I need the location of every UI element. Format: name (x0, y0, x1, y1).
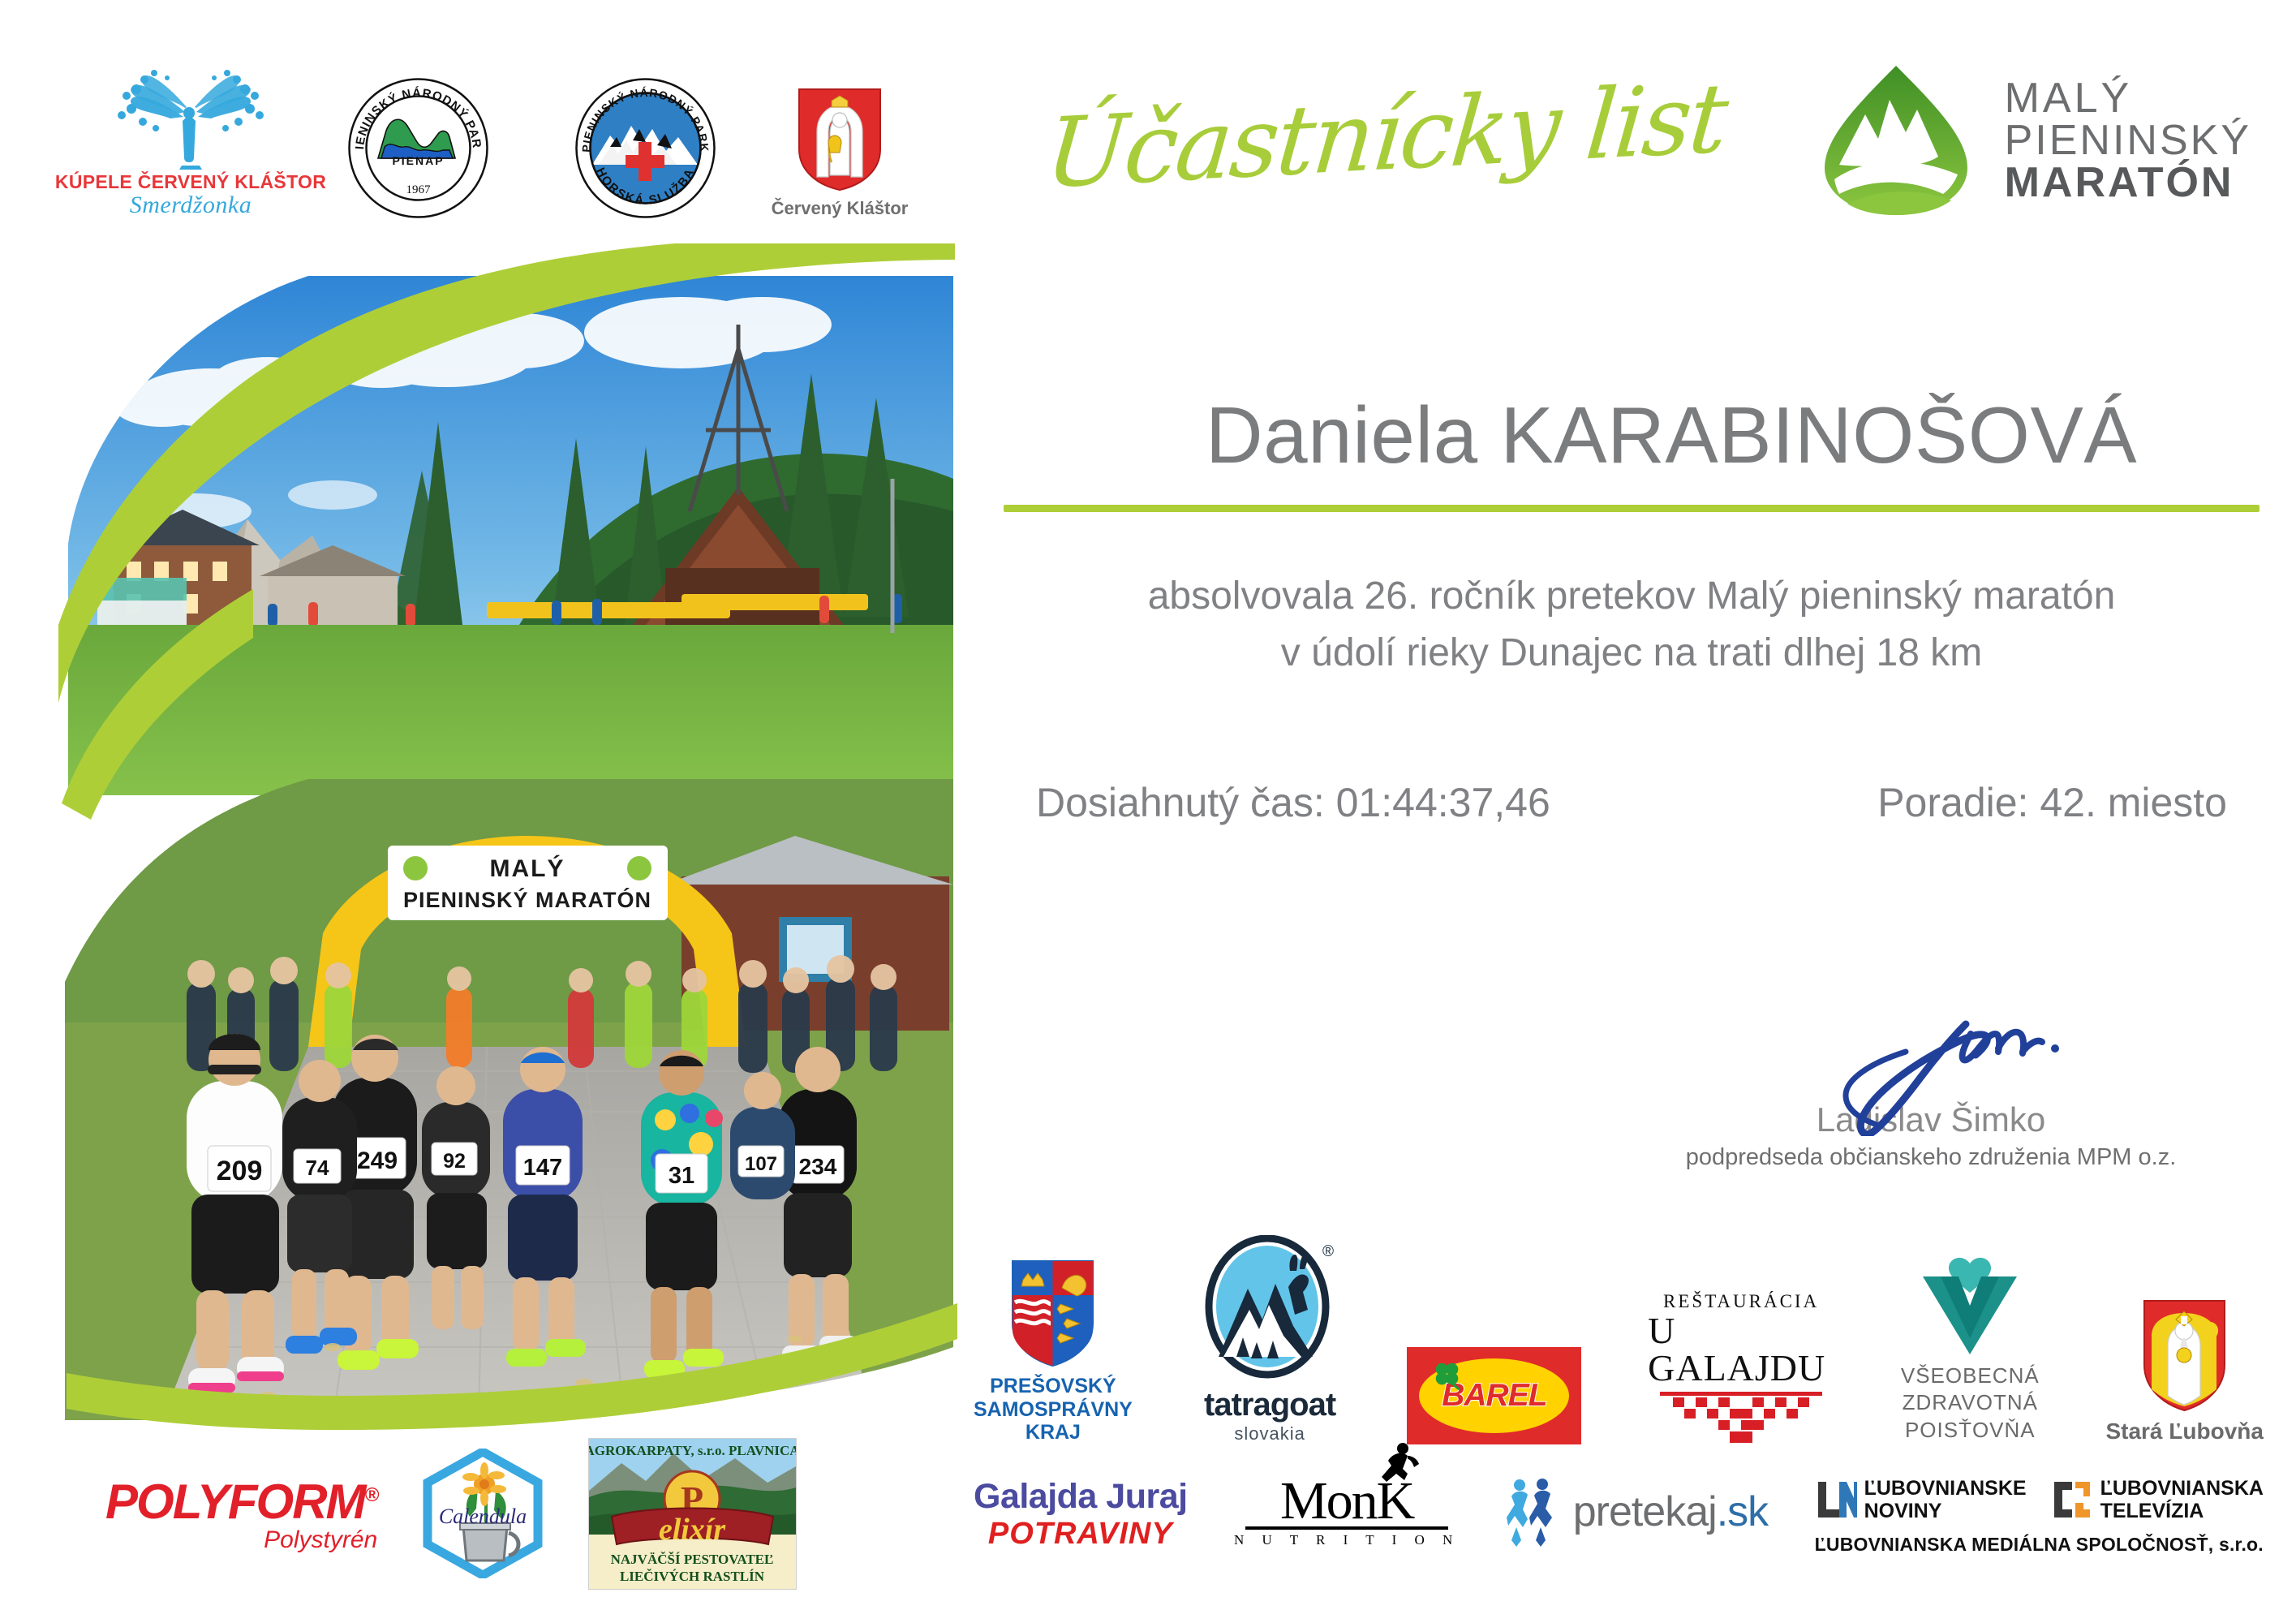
sponsor-row-bottom-left: POLYFORM® Polystyrén (105, 1428, 917, 1599)
event-logo-line1: MALÝ (2005, 77, 2251, 119)
sponsor-calendula: Calendula (418, 1449, 548, 1578)
sponsor-agrokarpaty-elixir: AGROKARPATY, s.r.o. PLAVNICA P elixír NA… (588, 1438, 797, 1590)
media-noviny-line2: NOVINY (1864, 1500, 2027, 1522)
elixir-label-icon: AGROKARPATY, s.r.o. PLAVNICA P elixír NA… (589, 1439, 796, 1589)
psk-line3: KRAJ (974, 1421, 1133, 1444)
svg-text:147: 147 (523, 1155, 562, 1181)
logo-kupele-cerveny-klastor: KÚPELE ČERVENÝ KLÁŠTOR Smerdžonka (77, 60, 304, 219)
svg-text:107: 107 (745, 1153, 777, 1175)
pretekaj-word: pretekaj.sk (1573, 1487, 1768, 1536)
svg-text:249: 249 (357, 1147, 398, 1174)
stara-lubovna-caption: Stará Ľubovňa (2105, 1419, 2263, 1444)
signature-block: Ladislav Šimko podpredseda občianskeho z… (1655, 998, 2207, 1171)
monk-sub: N U T R I T I O N (1234, 1532, 1460, 1548)
polyform-word: POLYFORM® (105, 1474, 377, 1530)
mountain-rescue-seal-icon: PIENINSKÝ NÁRODNÝ PARK HORSKÁ SLUŽBA (574, 77, 716, 219)
svg-text:PIENINSKÝ MARATÓN: PIENINSKÝ MARATÓN (403, 887, 651, 912)
sponsor-row-middle: PREŠOVSKÝ SAMOSPRÁVNY KRAJ ® (974, 1229, 2264, 1444)
cerveny-klastor-label: Červený Kláštor (772, 198, 909, 219)
svg-text:1967: 1967 (406, 183, 431, 196)
sponsor-row-bottom: Galajda Juraj POTRAVINY MonK N U T R I T… (974, 1477, 2264, 1599)
winged-statue-icon (97, 60, 284, 170)
sponsor-polyform: POLYFORM® Polystyrén (105, 1474, 377, 1554)
galajdu-main: U GALAJDU (1648, 1312, 1834, 1387)
vzp-line2: ZDRAVOTNÁ (1901, 1389, 2040, 1417)
sponsor-pretekaj-sk[interactable]: pretekaj.sk (1507, 1477, 1768, 1547)
ln-monogram-icon (1815, 1479, 1857, 1521)
svg-text:MALÝ: MALÝ (490, 855, 565, 882)
media-noviny-text: ĽUBOVNIANSKE NOVINY (1864, 1477, 2027, 1522)
polyform-trademark: ® (365, 1484, 378, 1506)
name-underline (1004, 505, 2259, 512)
header-partner-logos: KÚPELE ČERVENÝ KLÁŠTOR Smerdžonka PIENIN… (77, 49, 937, 219)
psk-caption: PREŠOVSKÝ SAMOSPRÁVNY KRAJ (974, 1375, 1133, 1444)
psk-line2: SAMOSPRÁVNY (974, 1398, 1133, 1422)
tatragoat-word: tatragoat (1204, 1387, 1335, 1423)
calendula-flower-hexagon-icon: Calendula (418, 1449, 548, 1578)
sponsor-restauracia-u-galajdu: REŠTAURÁCIA U GALAJDU (1648, 1291, 1834, 1444)
photo-race-start: MALÝ PIENINSKÝ MARATÓN (65, 779, 953, 1420)
svg-text:209: 209 (217, 1156, 263, 1186)
svg-text:®: ® (1322, 1243, 1334, 1260)
sponsor-tatragoat: ® tatragoat slovakia (1199, 1235, 1341, 1444)
media-brand-televizia: ĽUBOVNIANSKA TELEVÍZIA (2051, 1477, 2264, 1522)
barel-logo: BAREL (1407, 1347, 1581, 1444)
running-monk-icon (1375, 1441, 1421, 1492)
tatragoat-sub: slovakia (1234, 1423, 1305, 1444)
galajda-line1: Galajda Juraj (974, 1477, 1188, 1517)
vzp-line1: VŠEOBECNÁ (1901, 1363, 2040, 1390)
description-line-2: v údolí rieky Dunajec na trati dlhej 18 … (1004, 625, 2259, 682)
description: absolvovala 26. ročník pretekov Malý pie… (1004, 568, 2259, 681)
monk-coat-of-arms-icon (796, 86, 884, 192)
galajdu-top: REŠTAURÁCIA (1663, 1291, 1819, 1312)
logo-horska-sluzba: PIENINSKÝ NÁRODNÝ PARK HORSKÁ SLUŽBA (531, 77, 759, 219)
chamois-mountain-oval-icon: ® (1199, 1235, 1341, 1385)
page-title: Účastnícky list (1042, 62, 1731, 210)
sponsor-monk-nutrition: MonK N U T R I T I O N (1234, 1477, 1460, 1548)
polyform-sub: Polystyrén (264, 1526, 377, 1554)
pretekaj-tld: .sk (1717, 1488, 1768, 1535)
rank-position: Poradie: 42. miesto (1877, 779, 2227, 826)
psk-coat-of-arms-icon (1010, 1259, 1095, 1368)
folk-ornament-icon (1668, 1396, 1814, 1444)
sponsor-presovsky-samospravny-kraj: PREŠOVSKÝ SAMOSPRÁVNY KRAJ (974, 1259, 1133, 1444)
participant-name: Daniela KARABINOŠOVÁ (1095, 390, 2247, 481)
pretekaj-main: pretekaj (1573, 1488, 1717, 1535)
leaf-mountain-icon (1815, 61, 1977, 219)
certificate-page: KÚPELE ČERVENÝ KLÁŠTOR Smerdžonka PIENIN… (0, 0, 2296, 1623)
two-runners-icon (1507, 1477, 1565, 1547)
svg-text:LIEČIVÝCH RASTLÍN: LIEČIVÝCH RASTLÍN (620, 1569, 765, 1584)
galajda-line2: POTRAVINY (988, 1517, 1173, 1552)
signatory-role: podpredseda občianskeho združenia MPM o.… (1655, 1144, 2207, 1171)
svg-text:Calendula: Calendula (439, 1505, 527, 1528)
result-row: Dosiahnutý čas: 01:44:37,46 Poradie: 42.… (1004, 779, 2259, 826)
svg-text:NAJVÄČŠÍ PESTOVATEĽ: NAJVÄČŠÍ PESTOVATEĽ (611, 1552, 774, 1567)
sponsor-lubovnianska-medialna-spolocnost: ĽUBOVNIANSKE NOVINY ĽUBOVNIANSKA TELEVÍZ… (1815, 1477, 2264, 1556)
vzp-caption: VŠEOBECNÁ ZDRAVOTNÁ POISŤOVŇA (1901, 1363, 2040, 1444)
svg-text:elixír: elixír (659, 1513, 727, 1547)
svg-text:31: 31 (669, 1163, 694, 1189)
media-televizia-line1: ĽUBOVNIANSKA (2100, 1477, 2264, 1500)
clover-icon (1432, 1360, 1463, 1391)
media-noviny-line1: ĽUBOVNIANSKE (1864, 1477, 2027, 1500)
vzp-line3: POISŤOVŇA (1901, 1417, 2040, 1444)
bishop-coat-of-arms-icon (2142, 1298, 2227, 1412)
photo-festival-area (65, 276, 953, 795)
event-logo-line2: PIENINSKÝ (2005, 119, 2251, 161)
photo-collage: MALÝ PIENINSKÝ MARATÓN (50, 243, 967, 1444)
event-logo-line3: MARATÓN (2005, 161, 2251, 204)
sponsor-stara-lubovna: Stará Ľubovňa (2105, 1298, 2263, 1444)
pienap-circle-seal-icon: PIENINSKÝ NÁRODNÝ PARK PIENAP 1967 (347, 77, 489, 219)
media-televizia-line2: TELEVÍZIA (2100, 1500, 2264, 1522)
kupele-title: KÚPELE ČERVENÝ KLÁŠTOR (55, 171, 326, 193)
finish-time: Dosiahnutý čas: 01:44:37,46 (1036, 779, 1550, 826)
svg-text:AGROKARPATY, s.r.o. PLAVNICA: AGROKARPATY, s.r.o. PLAVNICA (589, 1443, 796, 1458)
handwritten-signature-icon (1761, 998, 2110, 1136)
psk-line1: PREŠOVSKÝ (974, 1375, 1133, 1398)
sponsor-barel: BAREL (1407, 1347, 1581, 1444)
svg-text:74: 74 (306, 1156, 329, 1180)
barel-oval: BAREL (1419, 1358, 1569, 1433)
svg-text:234: 234 (799, 1154, 837, 1179)
description-line-1: absolvovala 26. ročník pretekov Malý pie… (1004, 568, 2259, 625)
svg-text:PIENAP: PIENAP (392, 154, 444, 167)
svg-text:92: 92 (443, 1150, 466, 1173)
media-brands: ĽUBOVNIANSKE NOVINY ĽUBOVNIANSKA TELEVÍZ… (1815, 1477, 2264, 1522)
media-company-footer: ĽUBOVNIANSKA MEDIÁLNA SPOLOČNOSŤ, s.r.o. (1815, 1534, 2264, 1556)
kupele-subtitle: Smerdžonka (130, 192, 252, 219)
media-televizia-text: ĽUBOVNIANSKA TELEVÍZIA (2100, 1477, 2264, 1522)
media-brand-noviny: ĽUBOVNIANSKE NOVINY (1815, 1477, 2027, 1522)
monk-rule (1245, 1526, 1448, 1530)
vzp-chevron-heart-icon (1913, 1252, 2027, 1358)
sponsor-galajda-juraj: Galajda Juraj POTRAVINY (974, 1477, 1188, 1552)
logo-cerveny-klastor: Červený Kláštor (759, 86, 921, 219)
lt-monogram-icon (2051, 1479, 2093, 1521)
polyform-text: POLYFORM (105, 1474, 365, 1529)
sponsor-vseobecna-zdravotna-poistovna: VŠEOBECNÁ ZDRAVOTNÁ POISŤOVŇA (1901, 1252, 2040, 1444)
logo-pieninsky-narodny-park: PIENINSKÝ NÁRODNÝ PARK PIENAP 1967 (304, 77, 531, 219)
event-logo: MALÝ PIENINSKÝ MARATÓN (1815, 61, 2251, 219)
